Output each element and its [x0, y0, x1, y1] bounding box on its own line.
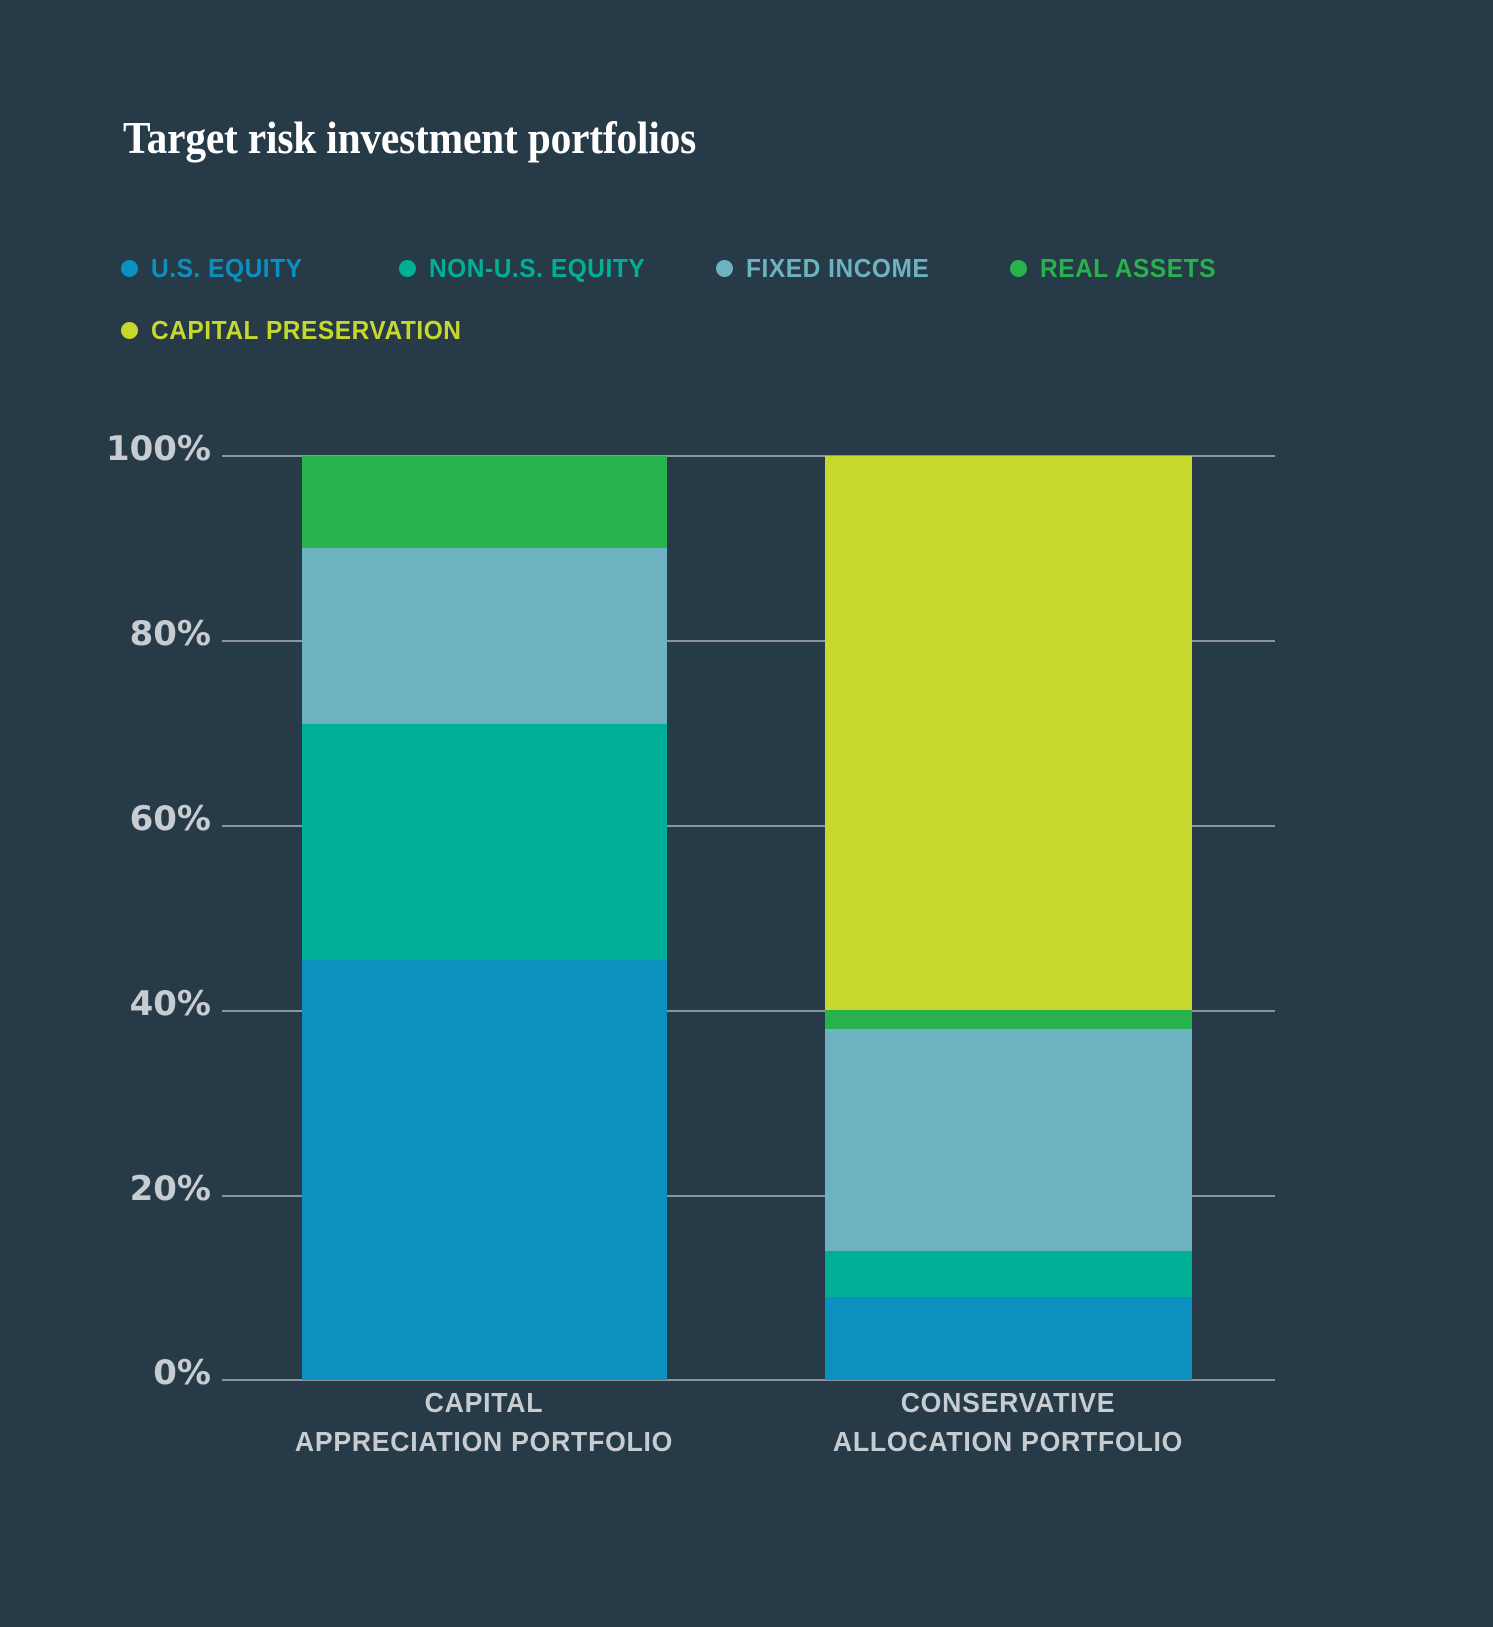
- bar-segment-fixed-income[interactable]: [302, 548, 667, 724]
- chart-plot-area: 100% 80% 60% 40% 20% 0% CAPITAL APPRECIA…: [0, 0, 1493, 1627]
- bar-segment-real-assets[interactable]: [302, 456, 667, 548]
- bar-segment-real-assets[interactable]: [825, 1010, 1192, 1028]
- axis-label-100: 100%: [106, 429, 211, 469]
- bar-segment-fixed-income[interactable]: [825, 1029, 1192, 1251]
- axis-label-40: 40%: [130, 984, 211, 1024]
- bar-capital-appreciation[interactable]: [302, 456, 667, 1380]
- category-label-conservative-allocation: CONSERVATIVE ALLOCATION PORTFOLIO: [809, 1383, 1208, 1461]
- axis-label-80: 80%: [130, 614, 211, 654]
- bar-segment-capital-preservation[interactable]: [825, 456, 1192, 1010]
- axis-label-20: 20%: [130, 1169, 211, 1209]
- bar-segment-us-equity[interactable]: [302, 960, 667, 1380]
- axis-label-60: 60%: [130, 799, 211, 839]
- axis-label-0: 0%: [153, 1353, 211, 1393]
- bar-segment-us-equity[interactable]: [825, 1297, 1192, 1380]
- category-label-capital-appreciation: CAPITAL APPRECIATION PORTFOLIO: [285, 1383, 684, 1461]
- bar-segment-non-us-equity[interactable]: [302, 724, 667, 960]
- bar-segment-non-us-equity[interactable]: [825, 1251, 1192, 1297]
- bar-conservative-allocation[interactable]: [825, 456, 1192, 1380]
